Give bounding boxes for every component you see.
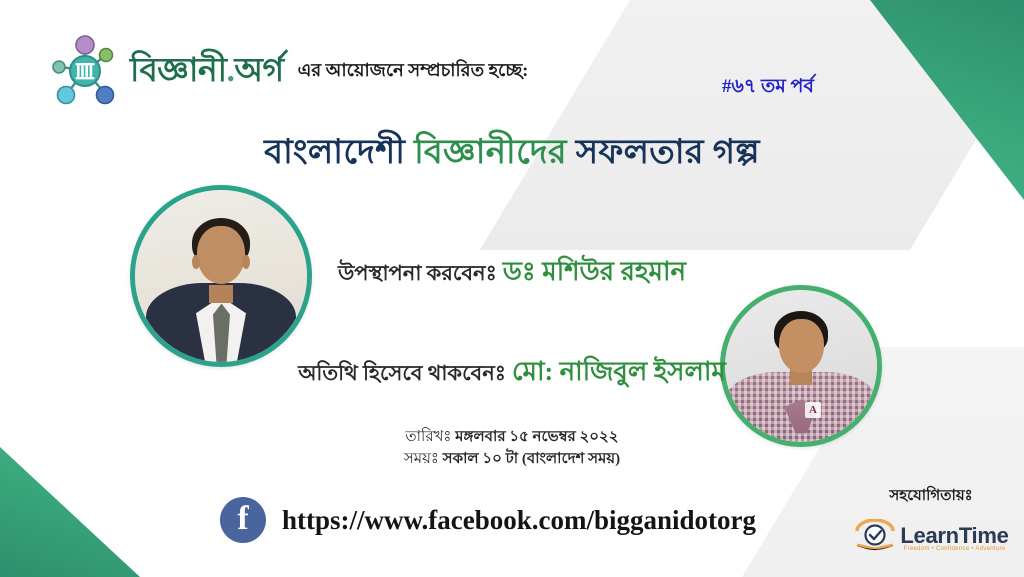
- brand-name: বিজ্ঞানী.অর্গ: [130, 55, 284, 88]
- title-part2: সফলতার গল্প: [567, 134, 760, 171]
- schedule-time-row: সময়ঃ সকাল ১০ টা (বাংলাদেশ সময়): [0, 449, 1024, 471]
- brand-name-secondary: অর্গ: [234, 53, 283, 89]
- sponsor-label: সহযোগিতায়ঃ: [845, 484, 1017, 509]
- top-right-grey-band: [480, 0, 1024, 250]
- brand-header: বিজ্ঞানী.অর্গ এর আয়োজনে সম্প্রচারিত হচ্…: [48, 34, 528, 108]
- broadcast-tagline: এর আয়োজনে সম্প্রচারিত হচ্ছে:: [298, 56, 529, 87]
- time-value: সকাল ১০ টা (বাংলাদেশ সময়): [443, 451, 620, 467]
- schedule-block: তারিখঃ মঙ্গলবার ১৫ নভেম্বর ২০২২ সময়ঃ সক…: [0, 427, 1024, 471]
- title-highlight: বিজ্ঞানীদের: [414, 134, 567, 171]
- schedule-date-row: তারিখঃ মঙ্গলবার ১৫ নভেম্বর ২০২২: [0, 427, 1024, 449]
- sponsor-tagline: Freedom • Confidence • Adventure: [900, 546, 1008, 552]
- episode-number: #৬৭ তম পর্ব: [722, 72, 814, 104]
- molecule-network-icon: [48, 34, 122, 108]
- host-credit-line: উপস্থাপনা করবেনঃডঃ মশিউর রহমান: [0, 251, 1024, 295]
- time-label: সময়ঃ: [404, 451, 439, 467]
- guest-label: অতিথি হিসেবে থাকবেনঃ: [298, 361, 506, 385]
- title-part1: বাংলাদেশী: [264, 134, 414, 171]
- sponsor-block: সহযোগিতায়ঃ LearnTime Freedom • Confiden…: [845, 484, 1017, 555]
- guest-name: মো: নাজিবুল ইসলাম: [512, 357, 726, 386]
- page-title: বাংলাদেশী বিজ্ঞানীদের সফলতার গল্প: [0, 126, 1024, 183]
- facebook-icon[interactable]: [220, 497, 266, 543]
- guest-credit-line: অতিথি হিসেবে থাকবেনঃমো: নাজিবুল ইসলাম: [0, 351, 1024, 395]
- facebook-url[interactable]: https://www.facebook.com/bigganidotorg: [282, 505, 756, 536]
- host-label: উপস্থাপনা করবেনঃ: [338, 261, 497, 285]
- brand-name-primary: বিজ্ঞানী: [130, 53, 227, 89]
- host-name: ডঃ মশিউর রহমান: [503, 257, 686, 286]
- sponsor-name: LearnTime: [900, 523, 1008, 549]
- date-label: তারিখঃ: [405, 429, 451, 445]
- facebook-link[interactable]: https://www.facebook.com/bigganidotorg: [220, 497, 756, 543]
- poster-canvas: বিজ্ঞানী.অর্গ এর আয়োজনে সম্প্রচারিত হচ্…: [0, 0, 1024, 577]
- sponsor-logo: LearnTime Freedom • Confidence • Adventu…: [845, 519, 1017, 555]
- book-clock-icon: [853, 519, 897, 555]
- guest-shirt-badge: A: [805, 402, 821, 418]
- date-value: মঙ্গলবার ১৫ নভেম্বর ২০২২: [455, 429, 618, 445]
